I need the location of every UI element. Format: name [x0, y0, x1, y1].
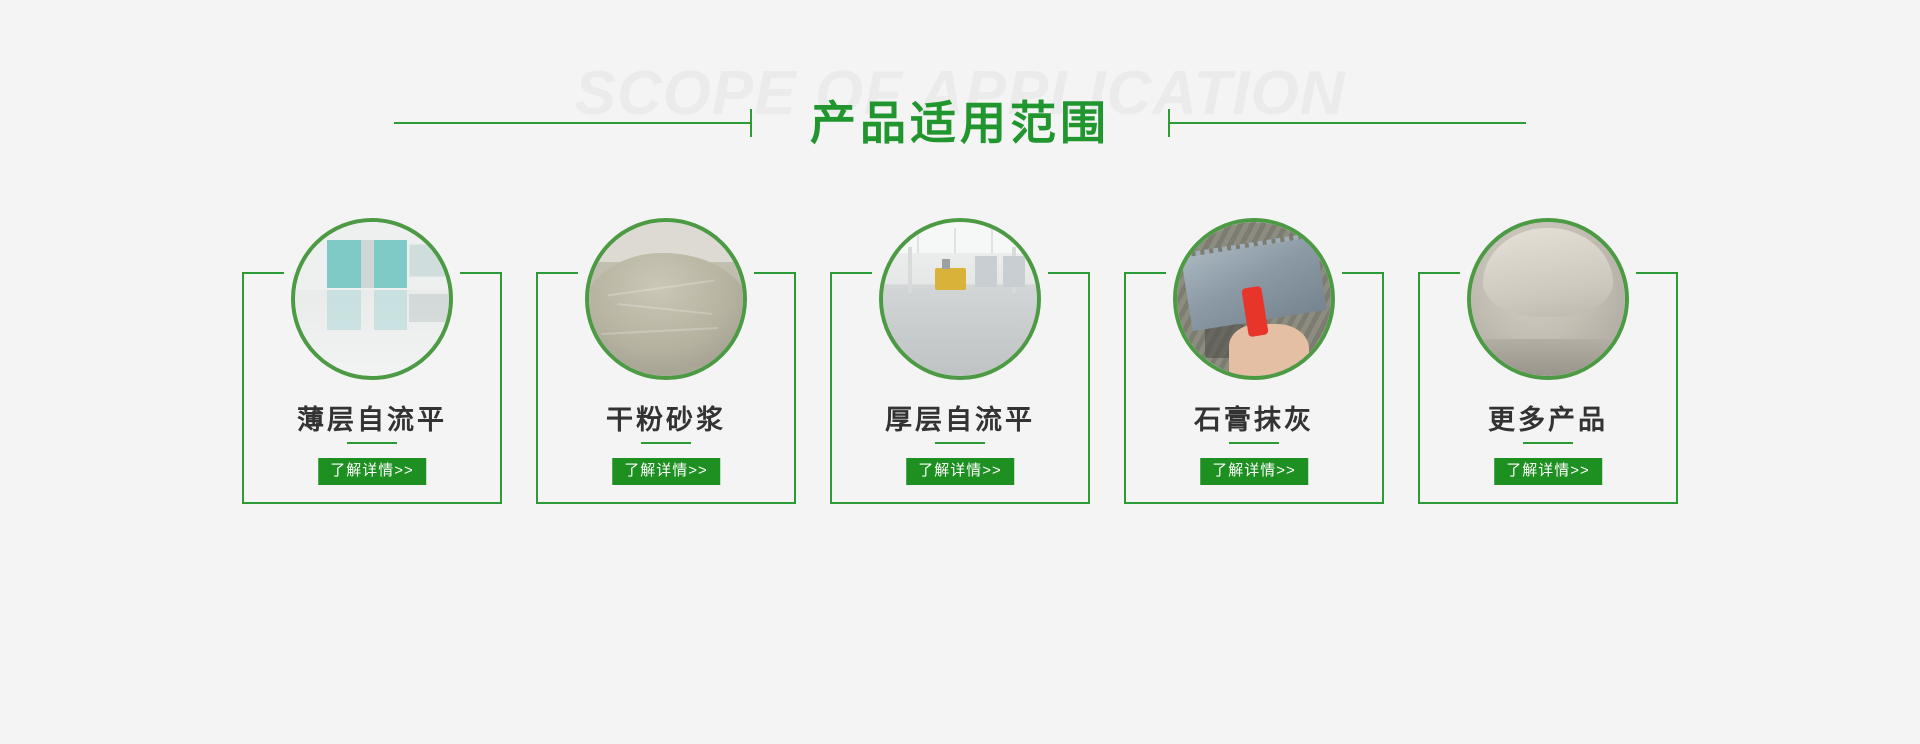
- learn-more-button[interactable]: 了解详情>>: [318, 458, 426, 485]
- card-label-underline: [347, 442, 397, 444]
- title-tick-right: [1168, 109, 1170, 137]
- learn-more-button[interactable]: 了解详情>>: [906, 458, 1014, 485]
- card-label: 干粉砂浆: [534, 398, 798, 437]
- card-label-underline: [935, 442, 985, 444]
- learn-more-button[interactable]: 了解详情>>: [1200, 458, 1308, 485]
- card-label: 石膏抹灰: [1122, 398, 1386, 437]
- gypsum-plastering-trowel-photo: [1177, 222, 1331, 376]
- thin-layer-self-leveling-floor-photo: [295, 222, 449, 376]
- application-card[interactable]: 石膏抹灰 了解详情>>: [1122, 218, 1386, 508]
- card-label-underline: [1523, 442, 1573, 444]
- title-rule-right: [1168, 122, 1526, 124]
- thick-layer-self-leveling-floor-photo: [883, 222, 1037, 376]
- application-card[interactable]: 薄层自流平 了解详情>>: [240, 218, 504, 508]
- card-label-underline: [641, 442, 691, 444]
- card-image-circle: [291, 218, 453, 380]
- page-title: 产品适用范围: [752, 100, 1168, 146]
- title-row: 产品适用范围: [0, 100, 1920, 146]
- card-label: 更多产品: [1416, 398, 1680, 437]
- title-rule-left: [394, 122, 752, 124]
- scope-of-application-section: SCOPE OF APPLICATION 产品适用范围: [0, 0, 1920, 744]
- dry-powder-mortar-photo: [589, 222, 743, 376]
- application-card[interactable]: 干粉砂浆 了解详情>>: [534, 218, 798, 508]
- card-image-circle: [585, 218, 747, 380]
- application-card[interactable]: 厚层自流平 了解详情>>: [828, 218, 1092, 508]
- card-label: 厚层自流平: [828, 398, 1092, 437]
- card-image-circle: [879, 218, 1041, 380]
- learn-more-button[interactable]: 了解详情>>: [612, 458, 720, 485]
- section-header: SCOPE OF APPLICATION 产品适用范围: [0, 0, 1920, 200]
- application-card-list: 薄层自流平 了解详情>> 干粉砂浆 了解详情>>: [0, 218, 1920, 508]
- card-image-circle: [1467, 218, 1629, 380]
- card-image-circle: [1173, 218, 1335, 380]
- learn-more-button[interactable]: 了解详情>>: [1494, 458, 1602, 485]
- title-tick-left: [750, 109, 752, 137]
- card-label: 薄层自流平: [240, 398, 504, 437]
- application-card[interactable]: 更多产品 了解详情>>: [1416, 218, 1680, 508]
- more-products-photo: [1471, 222, 1625, 376]
- card-label-underline: [1229, 442, 1279, 444]
